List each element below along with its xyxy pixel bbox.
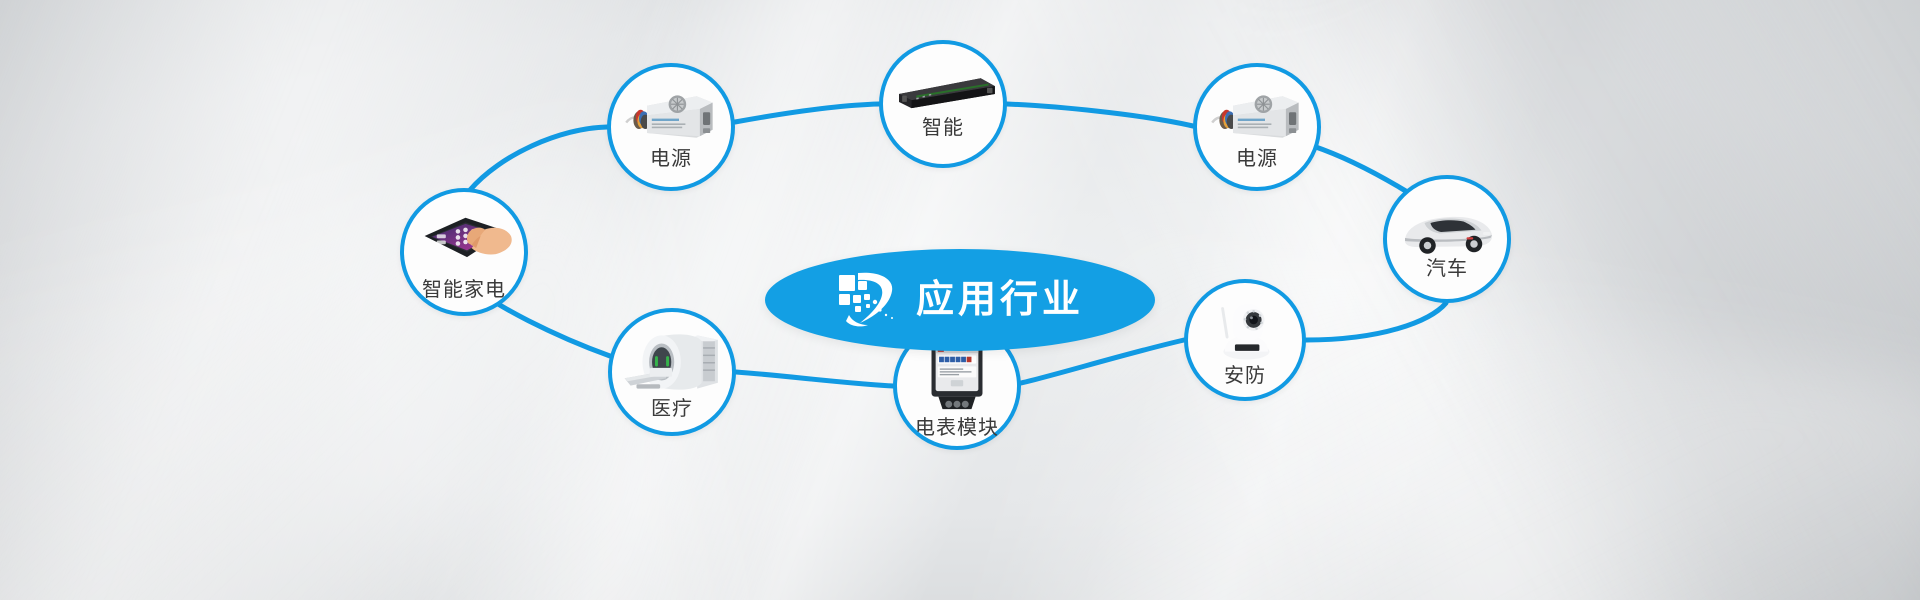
atx-power-supply-icon (1209, 85, 1305, 149)
rack-server-icon (888, 70, 998, 118)
node-label: 安防 (1224, 366, 1266, 386)
atx-power-supply-icon (623, 85, 719, 149)
atx-power-supply-icon (623, 85, 719, 149)
node-power-top-left[interactable]: 电源 (607, 63, 735, 191)
connector-segment (736, 372, 893, 386)
connector-segment (470, 127, 607, 190)
sports-car-icon (1394, 199, 1500, 259)
connector-segment (735, 104, 879, 122)
node-smart[interactable]: 智能 (879, 40, 1007, 168)
connector-segment (1021, 340, 1184, 383)
atx-power-supply-icon (1209, 85, 1305, 149)
node-security[interactable]: 安防 (1184, 279, 1306, 401)
node-automotive[interactable]: 汽车 (1383, 175, 1511, 303)
mri-scanner-icon (620, 325, 724, 399)
tablet-touch-icon (411, 204, 517, 280)
node-label: 电源 (1236, 149, 1278, 169)
node-medical[interactable]: 医疗 (608, 308, 736, 436)
node-smart-appliance[interactable]: 智能家电 (400, 188, 528, 316)
connector-segment (1306, 303, 1446, 340)
tablet-touch-icon (411, 204, 517, 280)
sports-car-icon (1394, 199, 1500, 259)
ip-camera-icon (1209, 294, 1281, 366)
mri-scanner-icon (620, 325, 724, 399)
center-badge[interactable]: 应用行业 (765, 249, 1155, 351)
swoosh-pixels-logo-icon (836, 271, 900, 329)
connector-segment (1007, 104, 1193, 126)
rack-server-icon (888, 70, 998, 118)
application-industries-banner: 电源 智能 (0, 0, 1920, 600)
ip-camera-icon (1209, 294, 1281, 366)
node-label: 智能 (922, 118, 964, 138)
node-label: 医疗 (651, 399, 693, 419)
node-label: 电源 (650, 149, 692, 169)
node-label: 智能家电 (422, 280, 506, 300)
node-label: 电表模块 (915, 418, 999, 438)
node-power-top-right[interactable]: 电源 (1193, 63, 1321, 191)
badge-title: 应用行业 (916, 281, 1084, 319)
node-label: 汽车 (1426, 259, 1468, 279)
